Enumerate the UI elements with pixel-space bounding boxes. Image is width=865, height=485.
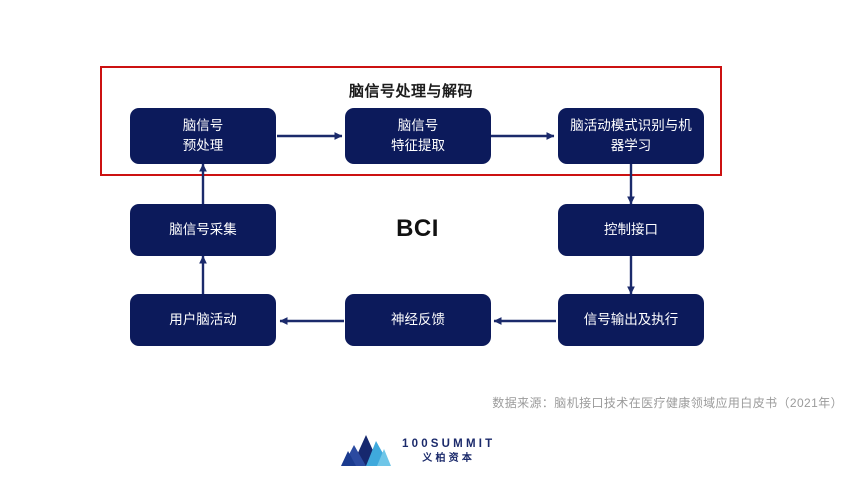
source-note: 数据来源：脑机接口技术在医疗健康领域应用白皮书（2021年） bbox=[492, 394, 843, 411]
node-feature-extraction[interactable]: 脑信号 特征提取 bbox=[345, 108, 491, 164]
node-label: 控制接口 bbox=[604, 220, 658, 240]
node-label: 神经反馈 bbox=[391, 310, 445, 330]
node-label: 脑信号 预处理 bbox=[183, 116, 224, 155]
logo-subtitle: 义柏资本 bbox=[422, 452, 475, 466]
node-preprocess[interactable]: 脑信号 预处理 bbox=[130, 108, 276, 164]
node-signal-output[interactable]: 信号输出及执行 bbox=[558, 294, 704, 346]
node-label: 用户脑活动 bbox=[169, 310, 237, 330]
node-label: 信号输出及执行 bbox=[584, 310, 679, 330]
node-pattern-recognition[interactable]: 脑活动模式识别与机 器学习 bbox=[558, 108, 704, 164]
node-label: 脑信号 特征提取 bbox=[391, 116, 445, 155]
brand-logo: 100SUMMIT 义柏资本 bbox=[340, 432, 495, 472]
logo-title: 100SUMMIT bbox=[402, 438, 495, 452]
node-user-brain-activity[interactable]: 用户脑活动 bbox=[130, 294, 276, 346]
node-label: 脑活动模式识别与机 器学习 bbox=[570, 116, 692, 155]
mountain-logo-icon bbox=[340, 432, 392, 472]
node-label: 脑信号采集 bbox=[169, 220, 237, 240]
logo-wordmark: 100SUMMIT 义柏资本 bbox=[402, 438, 495, 467]
slide-canvas: 脑信号处理与解码 BCI 脑信号 预处理 脑信号 特征提取 脑活动模式识别与机 … bbox=[0, 0, 865, 485]
node-signal-acquisition[interactable]: 脑信号采集 bbox=[130, 204, 276, 256]
node-neurofeedback[interactable]: 神经反馈 bbox=[345, 294, 491, 346]
center-label: BCI bbox=[345, 215, 490, 243]
node-control-interface[interactable]: 控制接口 bbox=[558, 204, 704, 256]
section-title: 脑信号处理与解码 bbox=[100, 80, 722, 101]
